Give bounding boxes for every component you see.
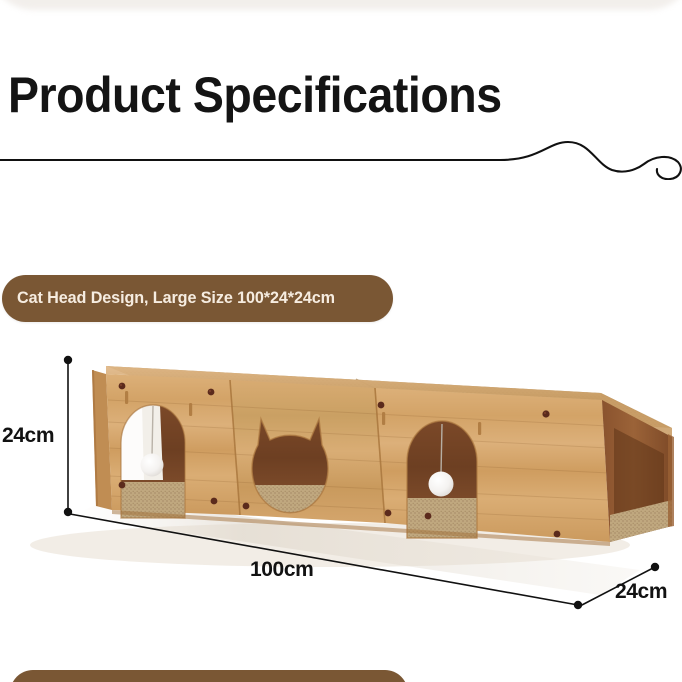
previous-section-edge: [0, 0, 682, 10]
dimension-label-width: 100cm: [250, 558, 313, 582]
dimension-label-height: 24cm: [2, 424, 54, 448]
product-image-stage: 24cm 100cm 24cm: [0, 330, 682, 630]
next-section-badge: [10, 670, 408, 682]
title-underline-squiggle: [0, 140, 682, 180]
product-illustration: [0, 330, 682, 630]
dimension-label-depth: 24cm: [615, 580, 667, 604]
page-title: Product Specifications: [8, 70, 502, 120]
product-specifications-page: Product Specifications Cat Head Design, …: [0, 0, 682, 682]
spec-badge: Cat Head Design, Large Size 100*24*24cm: [2, 275, 393, 322]
spec-badge-label: Cat Head Design, Large Size 100*24*24cm: [17, 289, 335, 308]
